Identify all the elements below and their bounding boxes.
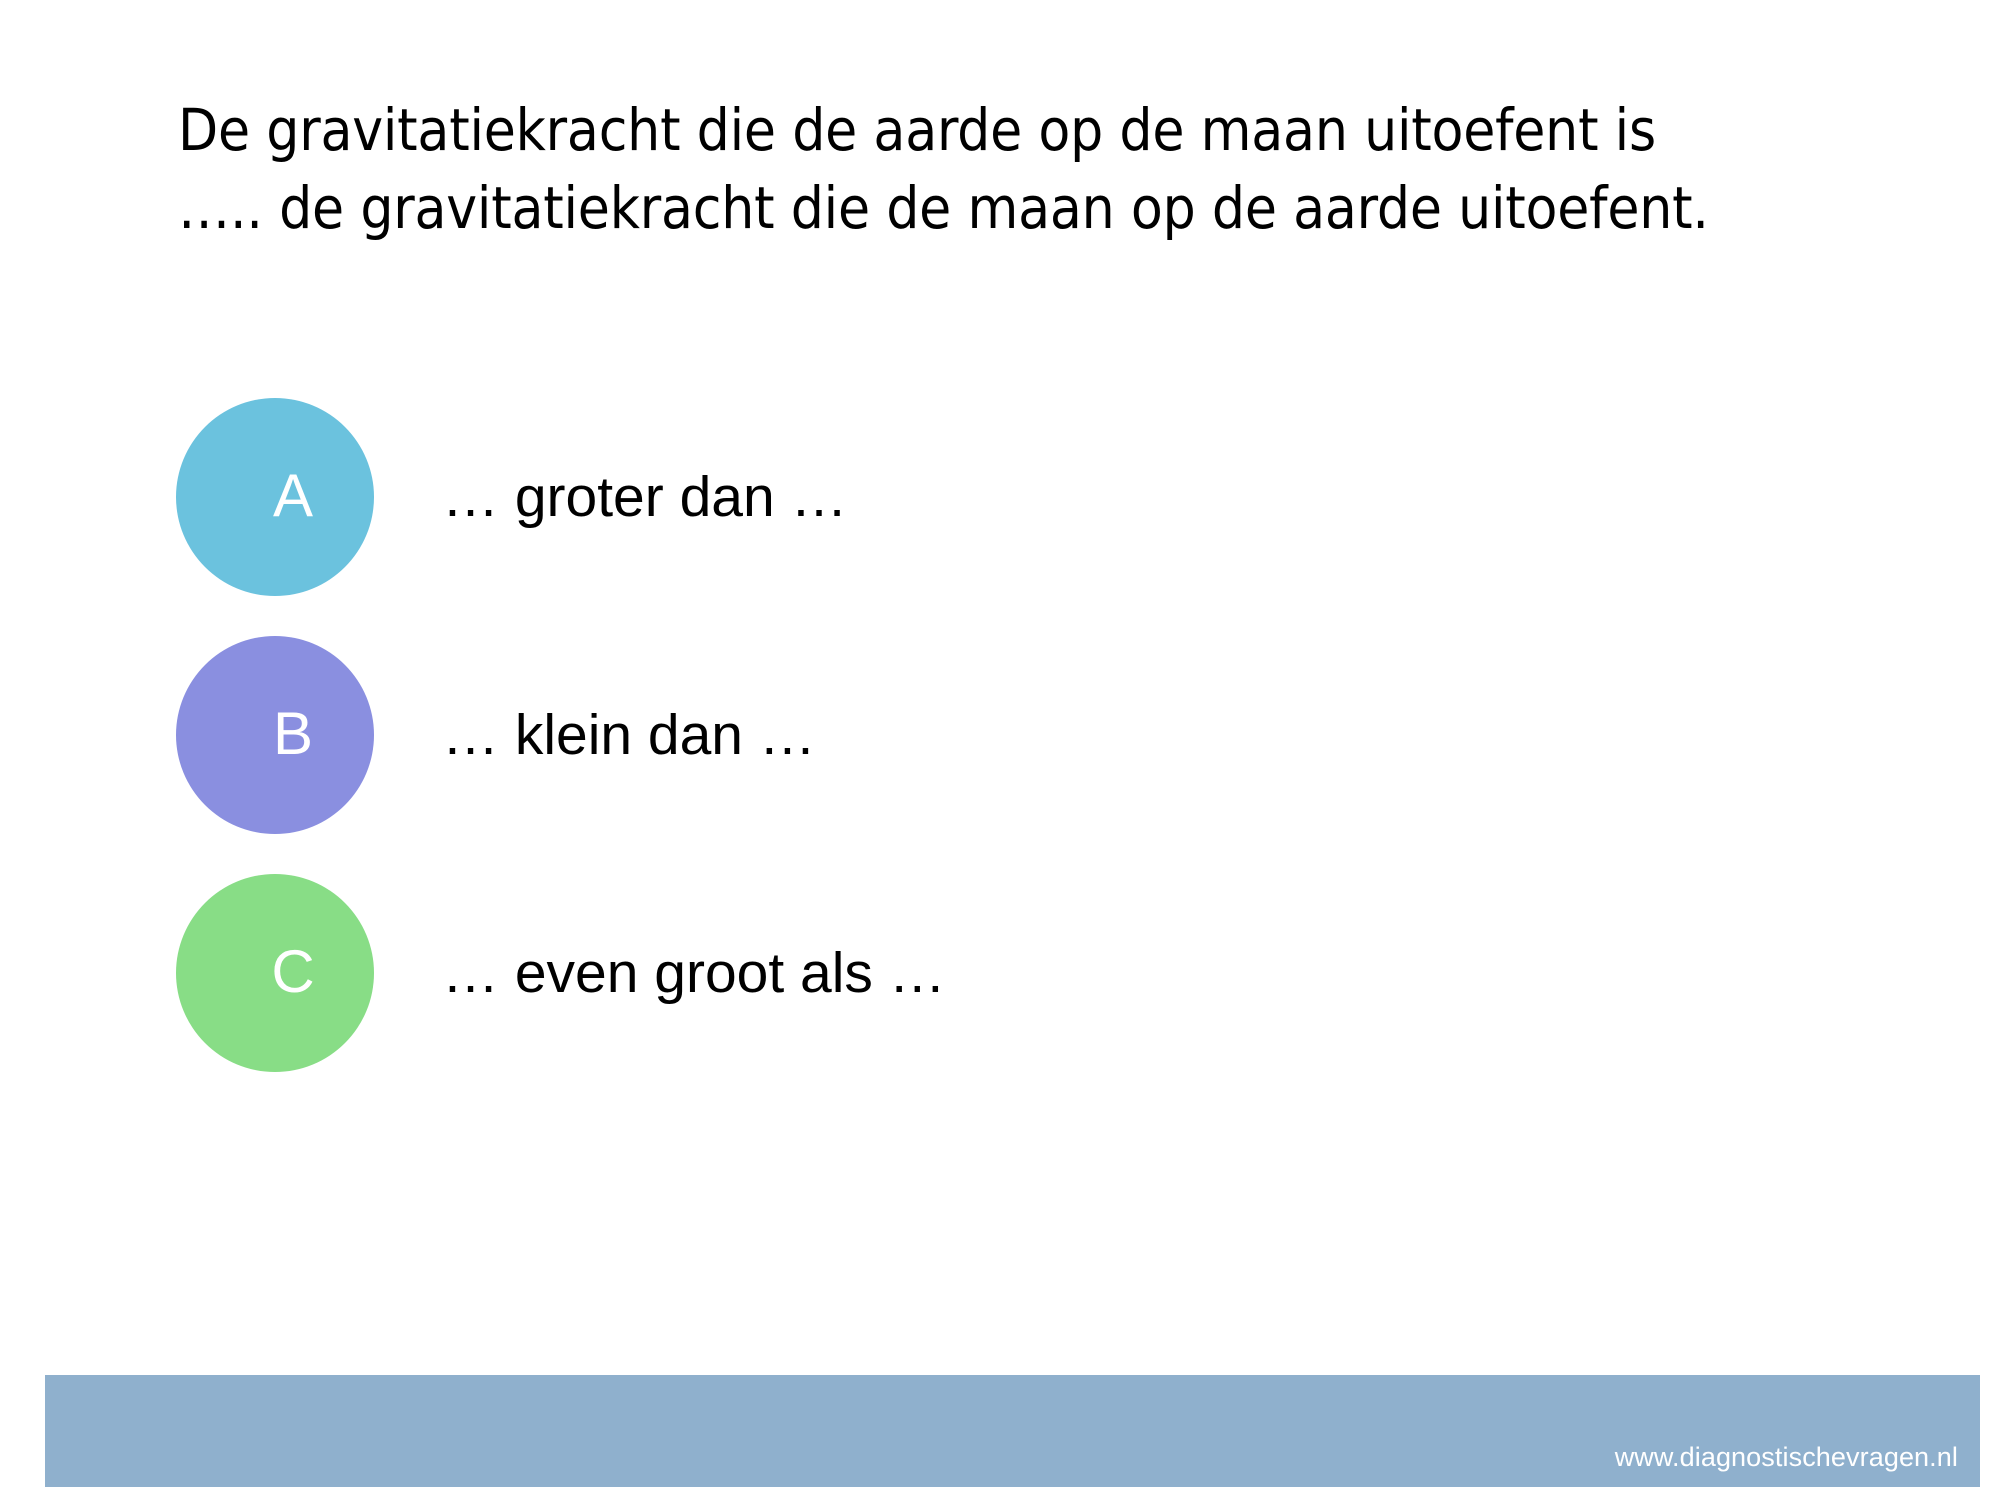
option-text-b: … klein dan …	[442, 701, 816, 769]
option-text-c: … even groot als …	[442, 939, 946, 1007]
option-badge-a[interactable]: A	[176, 398, 374, 596]
question-line-1: De gravitatiekracht die de aarde op de m…	[178, 92, 1918, 170]
option-text-a: … groter dan …	[442, 463, 848, 531]
footer-bar: www.diagnostischevragen.nl	[45, 1375, 1980, 1487]
option-letter-c: C	[176, 942, 374, 1002]
question-line-2: ….. de gravitatiekracht die de maan op d…	[178, 170, 1918, 248]
slide-canvas: De gravitatiekracht die de aarde op de m…	[0, 0, 2000, 1500]
option-badge-b[interactable]: B	[176, 636, 374, 834]
answer-option-b[interactable]: B … klein dan …	[0, 636, 2000, 834]
option-letter-a: A	[176, 466, 374, 526]
answer-option-a[interactable]: A … groter dan …	[0, 398, 2000, 596]
answer-option-c[interactable]: C … even groot als …	[0, 874, 2000, 1072]
option-badge-c[interactable]: C	[176, 874, 374, 1072]
footer-website-url[interactable]: www.diagnostischevragen.nl	[1615, 1444, 1958, 1471]
option-letter-b: B	[176, 704, 374, 764]
answer-options-list: A … groter dan … B … klein dan … C … eve…	[0, 398, 2000, 1112]
question-text: De gravitatiekracht die de aarde op de m…	[178, 92, 1918, 247]
